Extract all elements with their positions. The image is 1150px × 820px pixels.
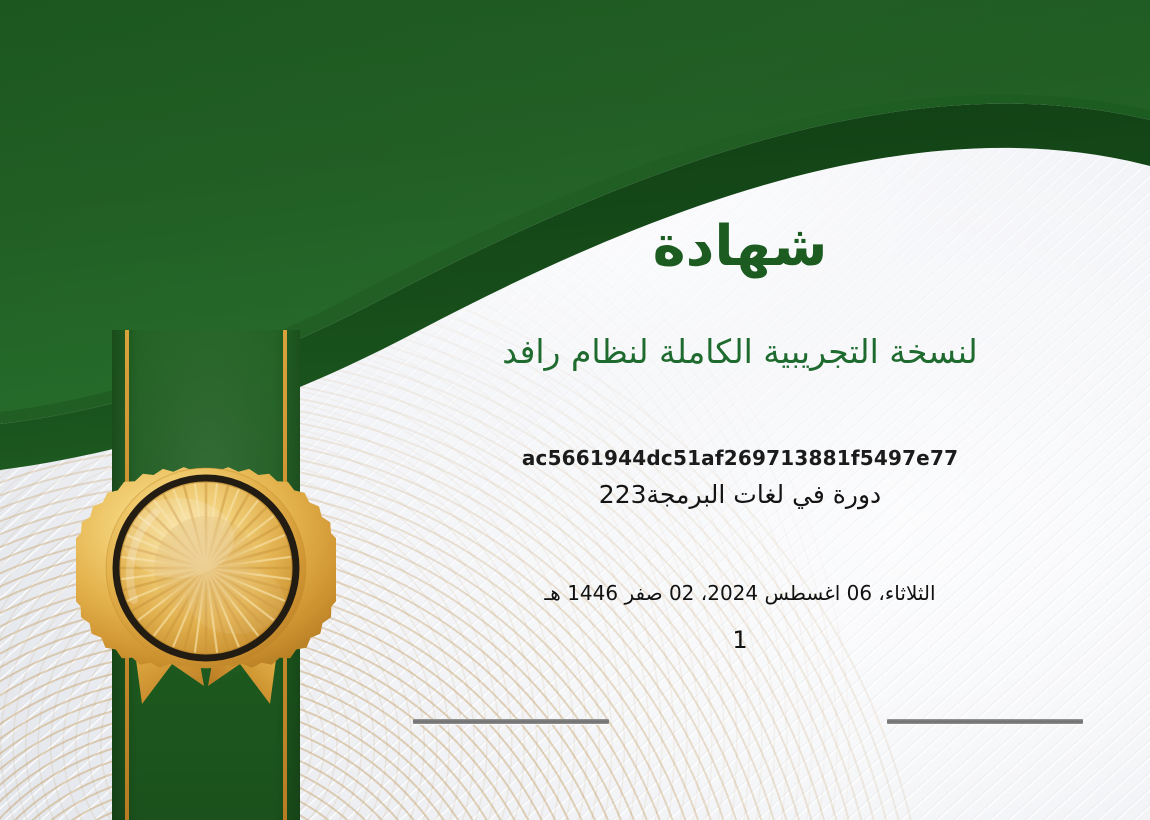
page-number: 1 bbox=[330, 626, 1150, 654]
certificate-subtitle: لنسخة التجريبية الكاملة لنظام رافد bbox=[330, 332, 1150, 371]
page-title: شهادة bbox=[330, 214, 1150, 279]
medal-sunburst-rays bbox=[120, 482, 292, 654]
course-name: دورة في لغات البرمجة223 bbox=[330, 480, 1150, 509]
certificate-page: شهادة لنسخة التجريبية الكاملة لنظام رافد… bbox=[0, 0, 1150, 820]
certificate-text-column: شهادة لنسخة التجريبية الكاملة لنظام رافد… bbox=[330, 0, 1150, 820]
gold-rosette-medal bbox=[76, 450, 336, 750]
signature-line-right bbox=[887, 719, 1083, 724]
issue-date: الثلاثاء، 06 اغسطس 2024، 02 صفر 1446 هـ bbox=[330, 581, 1150, 605]
signature-line-left bbox=[413, 719, 609, 724]
verification-hash: ac5661944dc51af269713881f5497e77 bbox=[330, 446, 1150, 470]
